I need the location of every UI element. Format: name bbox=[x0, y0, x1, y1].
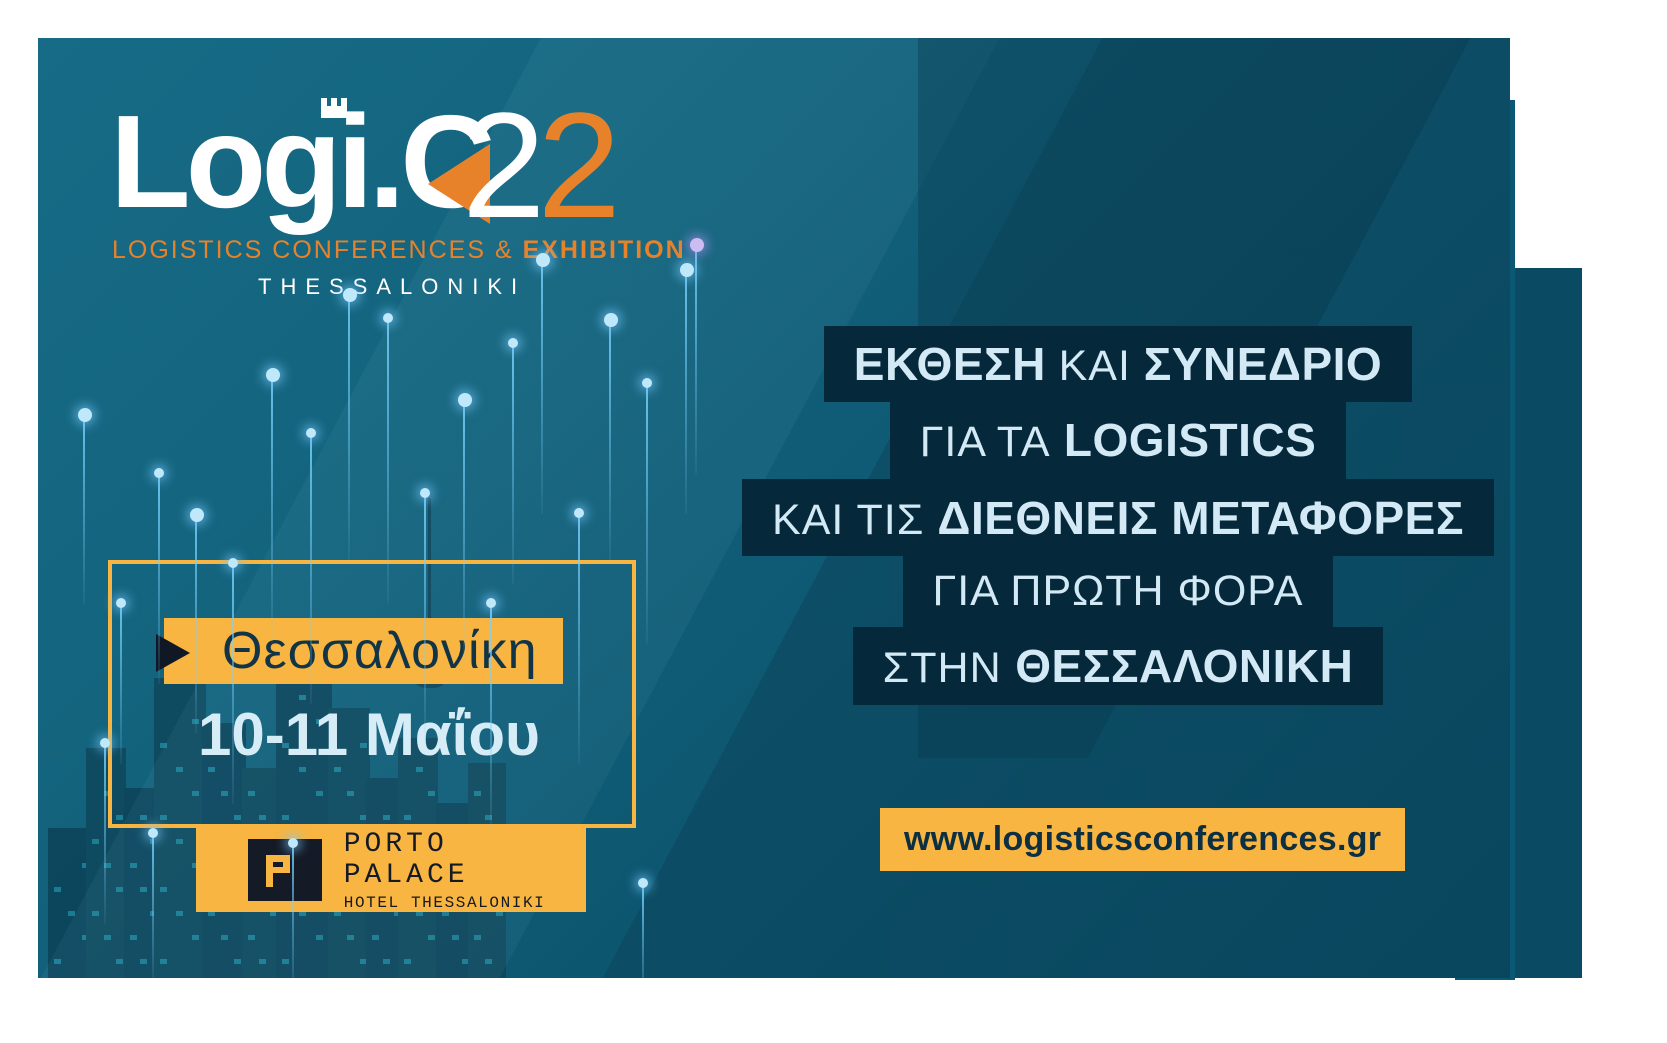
light-bulb-icon bbox=[420, 488, 430, 498]
light-bulb-icon bbox=[288, 838, 298, 848]
building-window bbox=[452, 935, 459, 940]
poster-card: Logi.C 22 LOGISTICS CONFERENCES & EXHIBI… bbox=[38, 38, 1510, 978]
building-window bbox=[104, 935, 111, 940]
light-stalk bbox=[348, 294, 350, 564]
building-window bbox=[428, 935, 435, 940]
building-window bbox=[192, 935, 199, 940]
light-bulb-icon bbox=[638, 878, 648, 888]
building-window bbox=[176, 911, 183, 916]
building-window bbox=[116, 887, 123, 892]
light-bulb-icon bbox=[690, 238, 704, 252]
headline-line-3: ΚΑΙ ΤΙΣ ΔΙΕΘΝΕΙΣ ΜΕΤΑΦΟΡΕΣ bbox=[742, 479, 1494, 556]
headline-3-bold: ΔΙΕΘΝΕΙΣ ΜΕΤΑΦΟΡΕΣ bbox=[937, 492, 1464, 544]
light-bulb-icon bbox=[100, 738, 110, 748]
headline-5-bold: ΘΕΣΣΑΛΟΝΙΚΗ bbox=[1015, 640, 1353, 692]
light-bulb-icon bbox=[266, 368, 280, 382]
light-bulb-icon bbox=[486, 598, 496, 608]
venue-name: PORTO PALACE bbox=[344, 829, 586, 891]
building-window bbox=[347, 935, 354, 940]
light-stalk bbox=[152, 834, 154, 978]
headline-2-light: ΓΙΑ ΤΑ bbox=[920, 418, 1051, 466]
light-stalk bbox=[271, 374, 273, 644]
headline-line-1: ΕΚΘΕΣΗ ΚΑΙ ΣΥΝΕΔΡΙΟ bbox=[824, 326, 1412, 402]
light-bulb-icon bbox=[148, 828, 158, 838]
light-bulb-icon bbox=[228, 558, 238, 568]
building-window bbox=[130, 863, 137, 868]
light-bulb-icon bbox=[642, 378, 652, 388]
building-window bbox=[234, 959, 241, 964]
building-window bbox=[92, 911, 99, 916]
event-details-frame bbox=[108, 560, 636, 828]
building-window bbox=[160, 887, 167, 892]
light-stalk bbox=[83, 414, 85, 604]
light-stalk bbox=[490, 604, 492, 834]
light-bulb-icon bbox=[190, 508, 204, 522]
castle-crown-icon bbox=[321, 98, 347, 118]
light-stalk bbox=[387, 319, 389, 604]
porto-palace-mark-icon bbox=[248, 839, 322, 901]
website-url-badge[interactable]: www.logisticsconferences.gr bbox=[880, 808, 1405, 871]
city-badge: Θεσσαλονίκη bbox=[164, 618, 563, 684]
headline-1-bold2: ΣΥΝΕΔΡΙΟ bbox=[1144, 338, 1383, 390]
building-window bbox=[485, 959, 492, 964]
light-stalk bbox=[512, 344, 514, 584]
headline-row: ΚΑΙ ΤΙΣ ΔΙΕΘΝΕΙΣ ΜΕΤΑΦΟΡΕΣ bbox=[738, 479, 1498, 556]
light-bulb-icon bbox=[383, 313, 393, 323]
light-bulb-icon bbox=[458, 393, 472, 407]
light-stalk bbox=[120, 604, 122, 764]
light-stalk bbox=[609, 319, 611, 564]
headline-2-bold: LOGISTICS bbox=[1064, 414, 1316, 466]
building-window bbox=[404, 959, 411, 964]
building-window bbox=[130, 935, 137, 940]
headline-row: ΕΚΘΕΣΗ ΚΑΙ ΣΥΝΕΔΡΙΟ bbox=[738, 326, 1498, 402]
venue-logo-badge: PORTO PALACE HOTEL THESSALONIKI bbox=[196, 828, 586, 912]
headline-1-light: ΚΑΙ bbox=[1059, 342, 1131, 390]
light-stalk bbox=[463, 399, 465, 664]
light-stalk bbox=[104, 744, 106, 924]
building-window bbox=[140, 887, 147, 892]
building-window bbox=[282, 959, 289, 964]
building-window bbox=[54, 887, 61, 892]
light-stalk bbox=[232, 564, 234, 804]
light-bulb-icon bbox=[154, 468, 164, 478]
light-stalk bbox=[158, 474, 160, 684]
venue-subtitle: HOTEL THESSALONIKI bbox=[344, 894, 586, 912]
light-bulb-icon bbox=[604, 313, 618, 327]
poster-canvas: Logi.C 22 LOGISTICS CONFERENCES & EXHIBI… bbox=[0, 0, 1667, 1043]
logo-tagline-regular: LOGISTICS CONFERENCES & bbox=[112, 236, 514, 264]
headline-line-2: ΓΙΑ ΤΑ LOGISTICS bbox=[890, 402, 1347, 479]
light-stalk bbox=[578, 514, 580, 764]
logo-year-second: 2 bbox=[537, 81, 612, 249]
headline-row: ΣΤΗΝ ΘΕΣΣΑΛΟΝΙΚΗ bbox=[738, 627, 1498, 705]
logo-year: 22 bbox=[462, 90, 613, 240]
logo-city-label: THESSALONIKI bbox=[258, 274, 526, 300]
light-stalk bbox=[695, 244, 697, 474]
building-window bbox=[92, 839, 99, 844]
light-bulb-icon bbox=[116, 598, 126, 608]
logo-year-first: 2 bbox=[462, 81, 537, 249]
headline-row: ΓΙΑ ΠΡΩΤΗ ΦΟΡΑ bbox=[738, 556, 1498, 627]
headline-row: ΓΙΑ ΤΑ LOGISTICS bbox=[738, 402, 1498, 479]
logic22-logo: Logi.C 22 LOGISTICS CONFERENCES & EXHIBI… bbox=[110, 96, 730, 232]
light-bulb-icon bbox=[574, 508, 584, 518]
light-bulb-icon bbox=[680, 263, 694, 277]
headline-1-bold: ΕΚΘΕΣΗ bbox=[854, 338, 1046, 390]
website-url-text: www.logisticsconferences.gr bbox=[904, 820, 1381, 858]
building-window bbox=[116, 959, 123, 964]
building-window bbox=[474, 935, 481, 940]
light-stalk bbox=[292, 844, 294, 978]
logo-tagline: LOGISTICS CONFERENCES & EXHIBITION bbox=[112, 236, 686, 265]
venue-text: PORTO PALACE HOTEL THESSALONIKI bbox=[344, 829, 586, 912]
light-stalk bbox=[685, 269, 687, 514]
headline-line-5: ΣΤΗΝ ΘΕΣΣΑΛΟΝΙΚΗ bbox=[853, 627, 1384, 705]
headline-5-light: ΣΤΗΝ bbox=[883, 644, 1002, 692]
building-window bbox=[248, 935, 255, 940]
event-date: 10-11 Μαΐου bbox=[198, 700, 540, 769]
building-window bbox=[383, 959, 390, 964]
light-stalk bbox=[310, 434, 312, 704]
headline-line-4: ΓΙΑ ΠΡΩΤΗ ΦΟΡΑ bbox=[903, 556, 1334, 627]
building-window bbox=[372, 935, 379, 940]
building-window bbox=[221, 935, 228, 940]
light-stalk bbox=[195, 514, 197, 734]
light-bulb-icon bbox=[306, 428, 316, 438]
building-window bbox=[176, 839, 183, 844]
light-stalk bbox=[646, 384, 648, 644]
light-bulb-icon bbox=[343, 288, 357, 302]
light-stalk bbox=[642, 884, 644, 978]
building-window bbox=[316, 935, 323, 940]
light-stalk bbox=[424, 494, 426, 744]
building-window bbox=[160, 959, 167, 964]
light-bulb-icon bbox=[78, 408, 92, 422]
headline-3-light: ΚΑΙ ΤΙΣ bbox=[772, 496, 924, 544]
headline-4-light: ΓΙΑ ΠΡΩΤΗ ΦΟΡΑ bbox=[933, 567, 1304, 615]
headline-group: ΕΚΘΕΣΗ ΚΑΙ ΣΥΝΕΔΡΙΟ ΓΙΑ ΤΑ LOGISTICS ΚΑΙ… bbox=[738, 326, 1498, 705]
light-bulb-icon bbox=[536, 253, 550, 267]
letter-p-glyph bbox=[266, 855, 292, 887]
building-window bbox=[54, 959, 61, 964]
logo-wordmark: Logi.C 22 bbox=[110, 96, 730, 232]
light-bulb-icon bbox=[508, 338, 518, 348]
building-window bbox=[259, 959, 266, 964]
chevron-right-icon bbox=[156, 634, 190, 672]
building-window bbox=[68, 911, 75, 916]
light-stalk bbox=[541, 259, 543, 514]
building-window bbox=[140, 959, 147, 964]
